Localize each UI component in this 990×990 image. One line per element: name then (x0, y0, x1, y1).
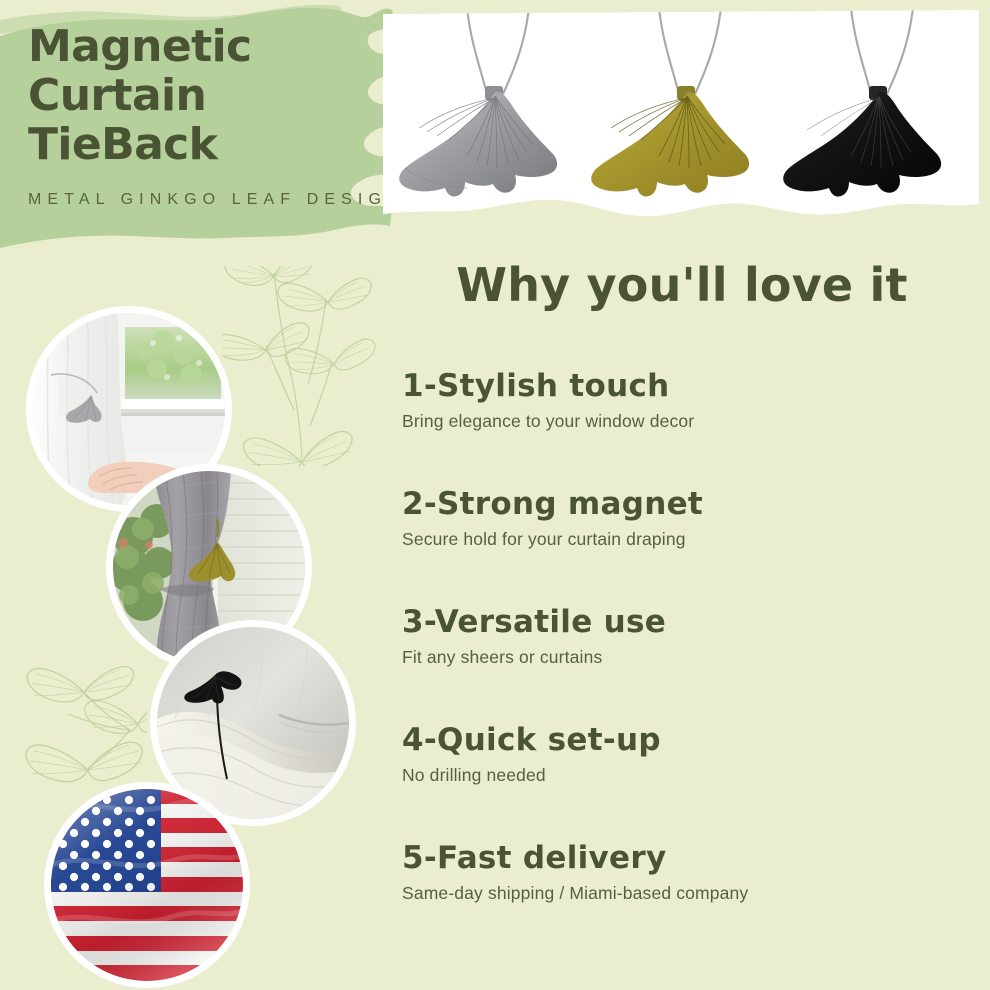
title-line-3: TieBack (28, 120, 373, 169)
benefit-item-1: 1-Stylish touch Bring elegance to your w… (402, 368, 972, 432)
benefit-title-3: 3-Versatile use (402, 604, 972, 640)
benefit-item-3: 3-Versatile use Fit any sheers or curtai… (402, 604, 972, 668)
ginkgo-line-art-left-icon (12, 618, 147, 787)
subtitle: METAL GINKGO LEAF DESIGN (28, 191, 373, 209)
title-block: Magnetic Curtain TieBack METAL GINKGO LE… (28, 22, 373, 209)
benefit-title-1: 1-Stylish touch (402, 368, 972, 404)
benefit-title-2: 2-Strong magnet (402, 486, 972, 522)
benefit-item-5: 5-Fast delivery Same-day shipping / Miam… (402, 840, 972, 904)
benefit-title-4: 4-Quick set-up (402, 722, 972, 758)
benefit-title-5: 5-Fast delivery (402, 840, 972, 876)
product-infographic: Magnetic Curtain TieBack METAL GINKGO LE… (0, 0, 990, 990)
hero-product-panel (381, 8, 981, 238)
benefit-desc-4: No drilling needed (402, 764, 972, 786)
benefit-desc-5: Same-day shipping / Miami-based company (402, 882, 972, 904)
benefit-item-2: 2-Strong magnet Secure hold for your cur… (402, 486, 972, 550)
benefit-desc-2: Secure hold for your curtain draping (402, 528, 972, 550)
benefit-item-4: 4-Quick set-up No drilling needed (402, 722, 972, 786)
benefits-heading: Why you'll love it (382, 258, 982, 312)
benefit-desc-1: Bring elegance to your window decor (402, 410, 972, 432)
title-line-1: Magnetic (28, 22, 373, 71)
benefit-desc-3: Fit any sheers or curtains (402, 646, 972, 668)
photo-usa-flag (44, 782, 250, 988)
title-line-2: Curtain (28, 71, 373, 120)
ginkgo-line-art-top-icon (222, 266, 377, 470)
benefits-list: 1-Stylish touch Bring elegance to your w… (402, 368, 972, 904)
